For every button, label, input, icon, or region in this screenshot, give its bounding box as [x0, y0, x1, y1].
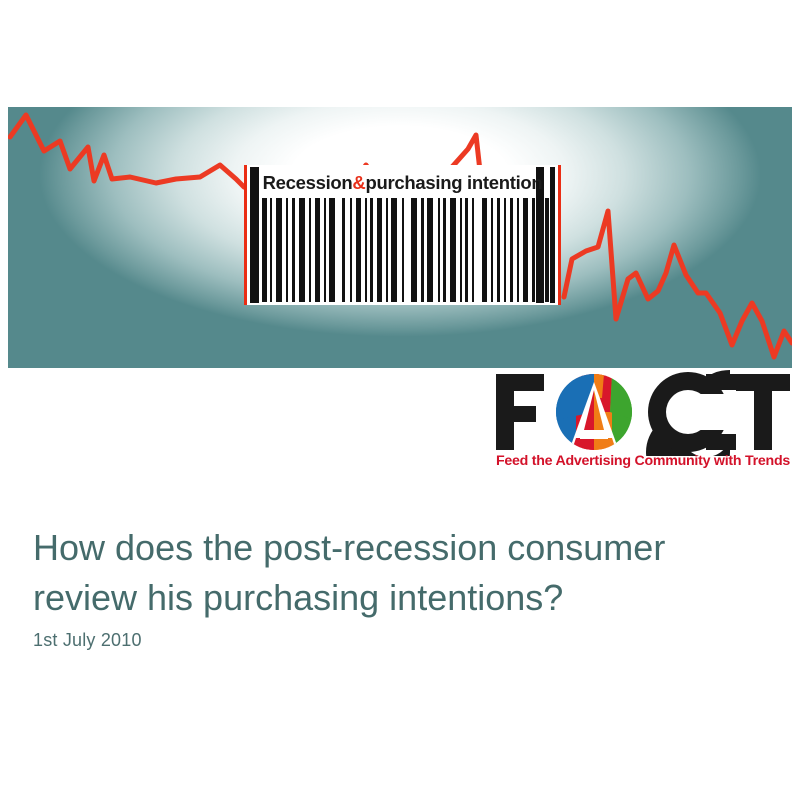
barcode-title-ampersand: &	[352, 172, 365, 194]
logo-letter-t	[736, 374, 790, 450]
barcode-left-red-edge	[244, 165, 247, 305]
trend-line-right-segment	[564, 211, 792, 357]
barcode-bars	[250, 198, 555, 302]
logo-letter-c	[646, 370, 736, 456]
page-title: How does the post-recession consumer rev…	[33, 523, 763, 623]
fact-wordmark	[492, 368, 792, 456]
banner-image: Recession & purchasing intention	[8, 107, 792, 368]
barcode-title: Recession & purchasing intention	[250, 166, 555, 199]
barcode-title-suffix: purchasing intention	[365, 172, 542, 194]
barcode-title-prefix: Recession	[263, 172, 353, 194]
date-label: 1st July 2010	[33, 630, 142, 651]
fact-tagline: Feed the Advertising Community with Tren…	[494, 453, 792, 469]
logo-letter-f	[496, 374, 544, 450]
barcode-right-red-edge	[558, 165, 561, 305]
logo-letter-a-circle	[556, 374, 634, 450]
barcode-graphic: Recession & purchasing intention	[244, 165, 561, 305]
fact-logo: Feed the Advertising Community with Tren…	[492, 368, 792, 478]
